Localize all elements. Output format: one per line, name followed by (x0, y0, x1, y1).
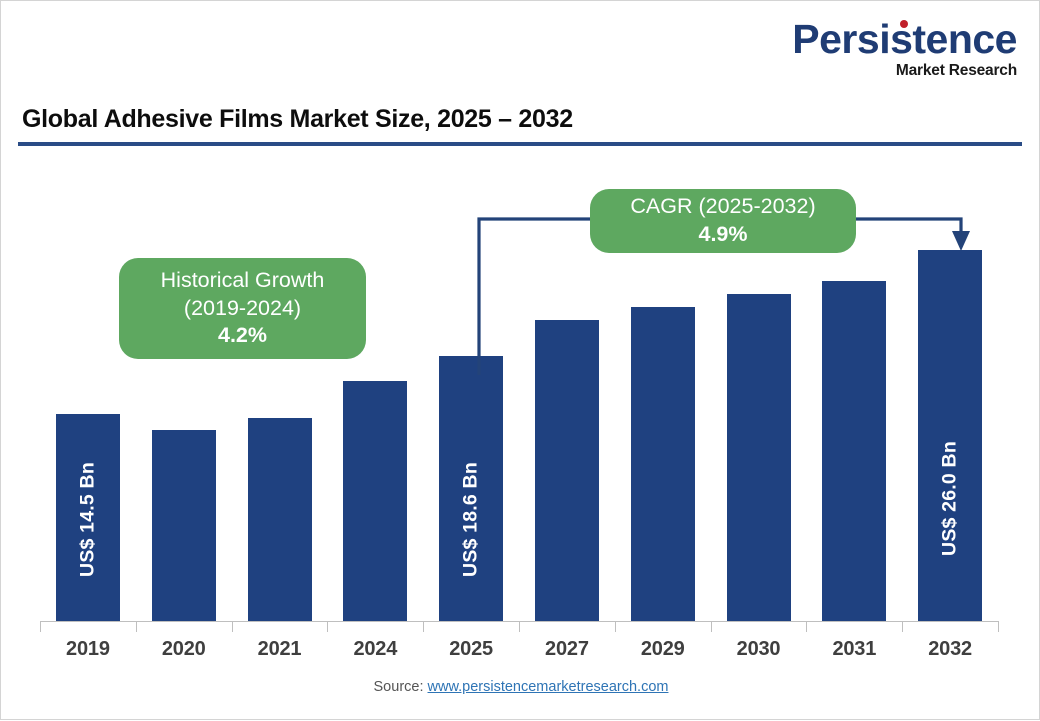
bar-2024 (343, 381, 407, 621)
x-axis-tick (998, 621, 999, 632)
bar-2029 (631, 307, 695, 621)
x-axis-tick (327, 621, 328, 632)
historical-growth-line1: Historical Growth (161, 267, 325, 295)
bar-value-label-2032: US$ 26.0 Bn (939, 424, 962, 574)
x-axis-tick (711, 621, 712, 632)
x-axis-label-2032: 2032 (902, 638, 998, 661)
cagr-callout: CAGR (2025-2032) 4.9% (590, 189, 856, 253)
bar-2020 (152, 430, 216, 621)
source-note: Source: www.persistencemarketresearch.co… (1, 679, 1040, 695)
x-axis-label-2027: 2027 (519, 638, 615, 661)
source-prefix: Source: (374, 679, 428, 695)
historical-growth-value: 4.2% (218, 322, 267, 350)
bar-chart-plot: US$ 14.5 BnUS$ 18.6 BnUS$ 26.0 Bn (1, 1, 1040, 721)
x-axis-label-2021: 2021 (232, 638, 328, 661)
historical-growth-callout: Historical Growth (2019-2024) 4.2% (119, 258, 366, 359)
cagr-line1: CAGR (2025-2032) (630, 193, 815, 221)
chart-canvas: Persistence Market Research Global Adhes… (0, 0, 1040, 720)
x-axis-tick (902, 621, 903, 632)
x-axis-tick (136, 621, 137, 632)
x-axis-tick (40, 621, 41, 632)
x-axis-label-2025: 2025 (423, 638, 519, 661)
x-axis-label-2029: 2029 (615, 638, 711, 661)
x-axis-label-2031: 2031 (806, 638, 902, 661)
x-axis-tick (806, 621, 807, 632)
x-axis-tick (232, 621, 233, 632)
bar-2027 (535, 320, 599, 621)
x-axis-label-2030: 2030 (711, 638, 807, 661)
cagr-value: 4.9% (698, 221, 747, 249)
source-link[interactable]: www.persistencemarketresearch.com (428, 679, 669, 695)
bar-value-label-2025: US$ 18.6 Bn (460, 445, 483, 595)
x-axis-tick (519, 621, 520, 632)
x-axis-label-2024: 2024 (327, 638, 423, 661)
x-axis-tick (423, 621, 424, 632)
bar-2030 (727, 294, 791, 621)
historical-growth-line2: (2019-2024) (184, 295, 301, 323)
bar-value-label-2019: US$ 14.5 Bn (76, 445, 99, 595)
x-axis-label-2019: 2019 (40, 638, 136, 661)
bar-2021 (248, 418, 312, 621)
x-axis-label-2020: 2020 (136, 638, 232, 661)
bar-2031 (822, 281, 886, 621)
x-axis-tick (615, 621, 616, 632)
